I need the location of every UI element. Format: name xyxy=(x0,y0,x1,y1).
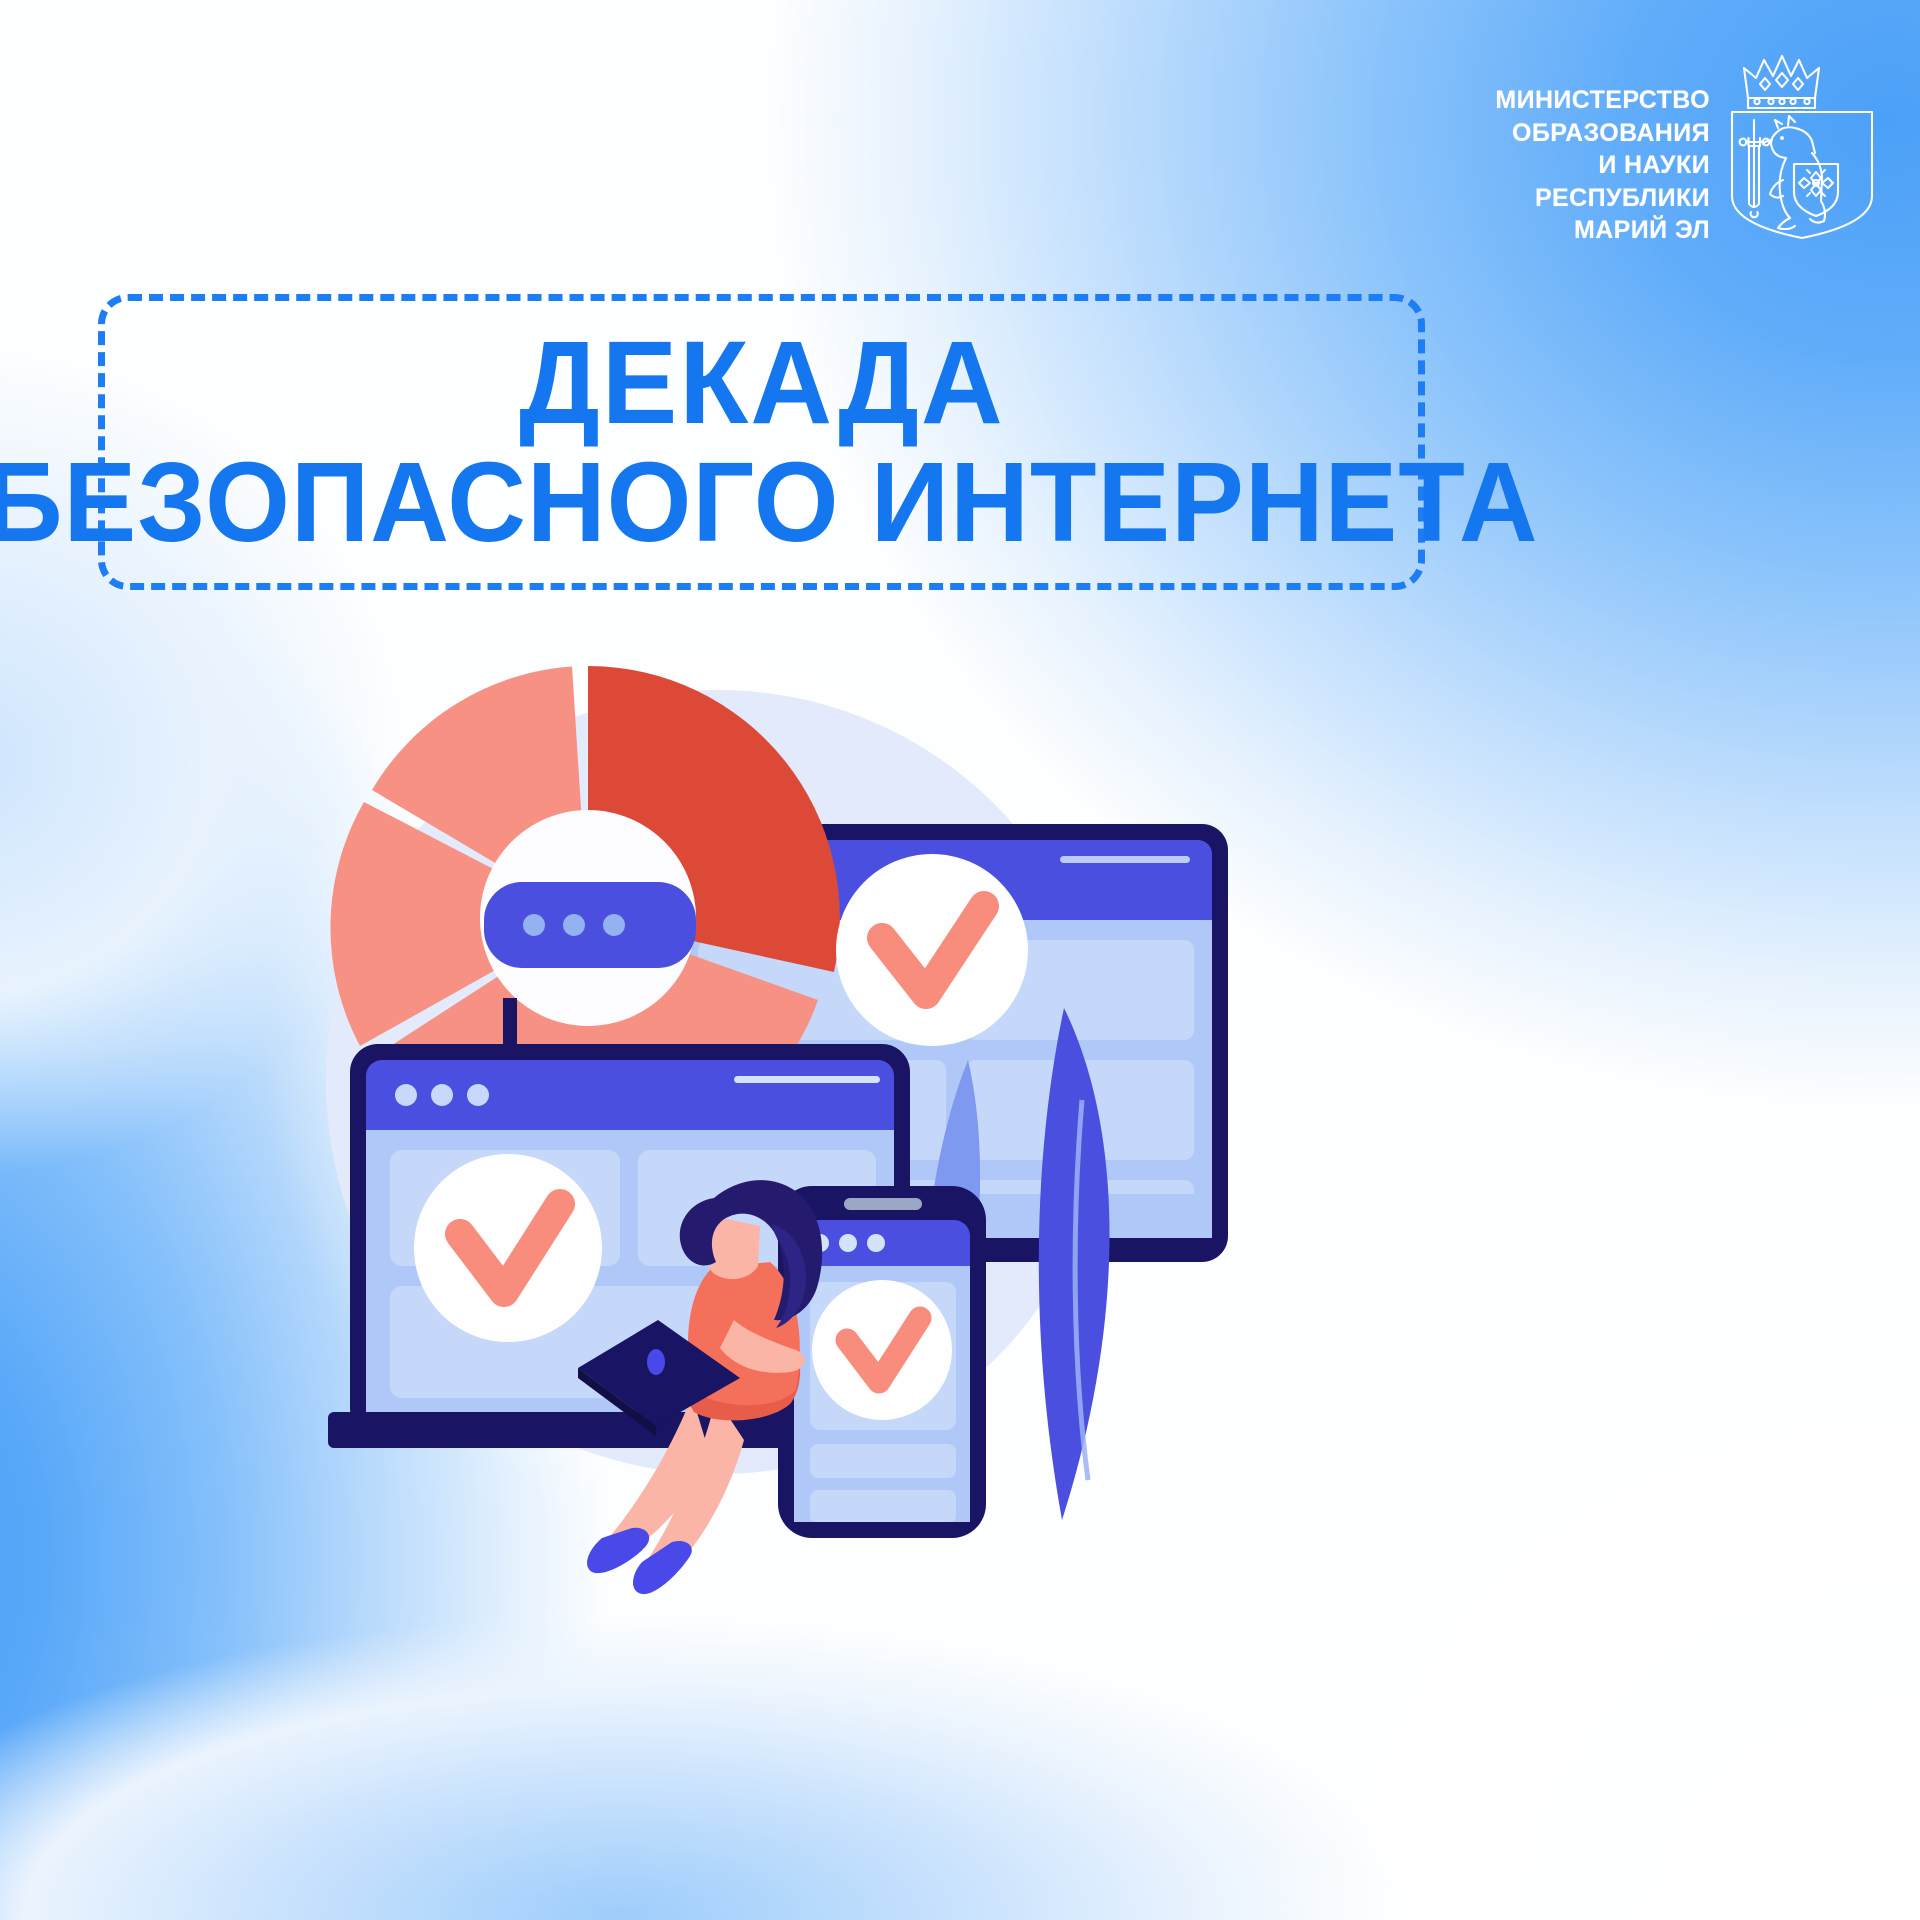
checkmark-badge-phone xyxy=(812,1280,952,1420)
internet-safety-illustration xyxy=(320,620,1180,1580)
ministry-logo: МИНИСТЕРСТВО ОБРАЗОВАНИЯ И НАУКИ РЕСПУБЛ… xyxy=(1495,46,1878,247)
title-line-2: БЕЗОПАСНОГО ИНТЕРНЕТА xyxy=(0,447,1539,558)
ministry-logo-text: МИНИСТЕРСТВО ОБРАЗОВАНИЯ И НАУКИ РЕСПУБЛ… xyxy=(1495,46,1710,247)
mari-el-coat-of-arms-icon xyxy=(1726,46,1878,242)
page-title: ДЕКАДА БЕЗОПАСНОГО ИНТЕРНЕТА xyxy=(98,294,1425,590)
logo-line-4: РЕСПУБЛИКИ xyxy=(1495,182,1710,215)
checkmark-badge-window xyxy=(414,1154,602,1342)
checkmark-badge-monitor xyxy=(836,854,1028,1046)
logo-line-2: ОБРАЗОВАНИЯ xyxy=(1495,117,1710,150)
browser-chip xyxy=(484,882,696,968)
logo-line-5: МАРИЙ ЭЛ xyxy=(1495,214,1710,247)
logo-line-3: И НАУКИ xyxy=(1495,149,1710,182)
title-line-1: ДЕКАДА xyxy=(519,326,1004,442)
poster-canvas: МИНИСТЕРСТВО ОБРАЗОВАНИЯ И НАУКИ РЕСПУБЛ… xyxy=(0,0,1920,1920)
logo-line-1: МИНИСТЕРСТВО xyxy=(1495,84,1710,117)
